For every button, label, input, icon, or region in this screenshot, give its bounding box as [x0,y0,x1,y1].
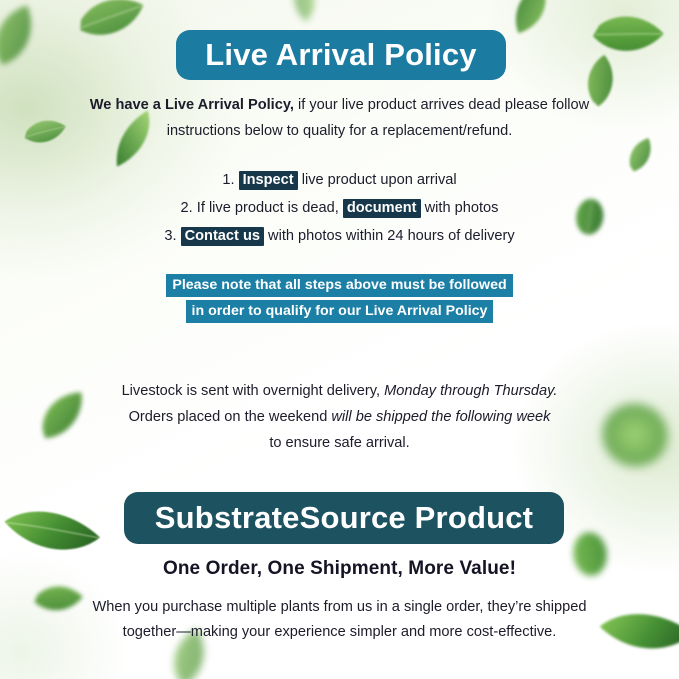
livestock-line-3: to ensure safe arrival. [0,430,679,456]
step-post-text: with photos within 24 hours of delivery [264,228,515,244]
intro-rest-text: if your live product arrives dead please… [294,97,589,113]
step-highlight-contact-us: Contact us [181,227,264,246]
step-post-text: with photos [421,200,499,216]
intro-line-1: We have a Live Arrival Policy, if your l… [0,92,679,118]
promo-graphic: Live Arrival Policy We have a Live Arriv… [0,0,679,679]
list-item: 2. If live product is dead, document wit… [0,194,679,222]
policy-note-line-1: Please note that all steps above must be… [166,274,512,297]
policy-note-row: in order to qualify for our Live Arrival… [0,300,679,323]
livestock-line-1-plain: Livestock is sent with overnight deliver… [122,383,385,399]
substratesource-product-title: SubstrateSource Product [155,500,533,536]
substrate-body-line-2: together—making your experience simpler … [0,620,679,645]
substrate-body-paragraph: When you purchase multiple plants from u… [0,595,679,645]
content-area: Live Arrival Policy We have a Live Arriv… [0,0,679,679]
policy-note-row: Please note that all steps above must be… [0,274,679,297]
livestock-line-2-plain: Orders placed on the weekend [129,409,332,425]
livestock-line-1: Livestock is sent with overnight deliver… [0,378,679,404]
livestock-line-2-italic: will be shipped the following week [331,409,550,425]
substrate-subtitle: One Order, One Shipment, More Value! [0,558,679,580]
intro-line-2: instructions below to quality for a repl… [0,118,679,144]
step-post-text: live product upon arrival [298,172,457,188]
live-arrival-policy-title: Live Arrival Policy [205,37,476,73]
livestock-shipping-paragraph: Livestock is sent with overnight deliver… [0,378,679,456]
step-number: 1. [222,172,234,188]
livestock-line-1-italic: Monday through Thursday. [384,383,557,399]
policy-note-block: Please note that all steps above must be… [0,274,679,326]
intro-paragraph: We have a Live Arrival Policy, if your l… [0,92,679,144]
live-arrival-policy-banner: Live Arrival Policy [176,30,506,80]
step-highlight-document: document [343,199,421,218]
substratesource-product-banner: SubstrateSource Product [124,492,564,544]
intro-bold-text: We have a Live Arrival Policy, [90,97,294,113]
step-number: 3. [164,228,176,244]
policy-note-line-2: in order to qualify for our Live Arrival… [186,300,494,323]
substrate-body-line-1: When you purchase multiple plants from u… [0,595,679,620]
steps-list: 1. Inspect live product upon arrival 2. … [0,166,679,250]
step-pre-text: If live product is dead, [197,200,343,216]
step-highlight-inspect: Inspect [239,171,298,190]
list-item: 1. Inspect live product upon arrival [0,166,679,194]
livestock-line-2: Orders placed on the weekend will be shi… [0,404,679,430]
step-number: 2. [181,200,193,216]
list-item: 3. Contact us with photos within 24 hour… [0,222,679,250]
